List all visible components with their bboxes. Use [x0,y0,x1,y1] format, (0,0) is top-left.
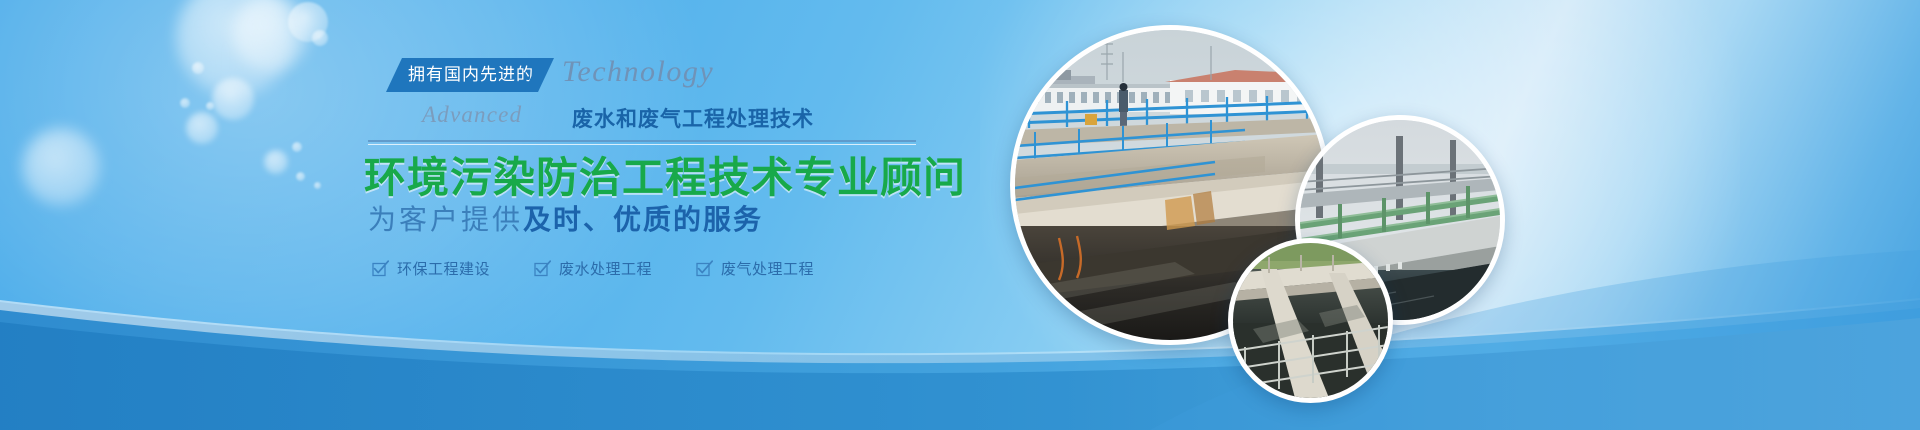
promo-banner: 拥有国内先进的 Technology Advanced 废水和废气工程处理技术 … [0,0,1920,430]
photo-sludge-basin-image [1233,243,1388,398]
photo-sludge-basin [1228,238,1393,403]
photo-cluster [0,0,1920,430]
